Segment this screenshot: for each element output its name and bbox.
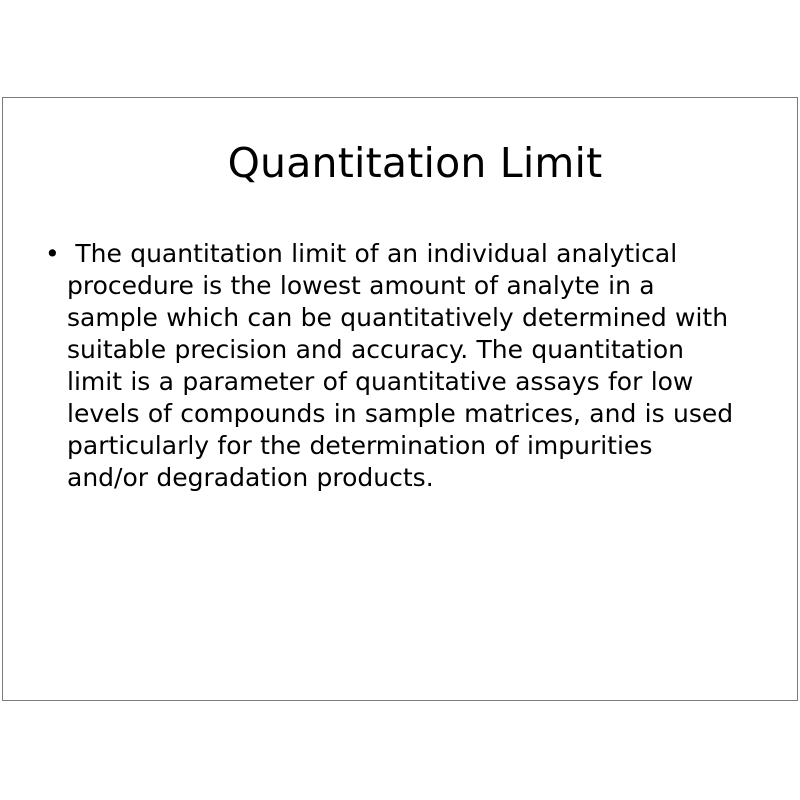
bullet-text: The quantitation limit of an individual …: [67, 238, 739, 494]
slide-title: Quantitation Limit: [3, 139, 799, 187]
slide-canvas: Quantitation Limit • The quantitation li…: [2, 97, 798, 701]
slide-viewer: Quantitation Limit • The quantitation li…: [0, 0, 800, 800]
bullet-point-icon: •: [45, 238, 63, 270]
slide-body: • The quantitation limit of an individua…: [39, 238, 739, 494]
list-item: • The quantitation limit of an individua…: [39, 238, 739, 494]
